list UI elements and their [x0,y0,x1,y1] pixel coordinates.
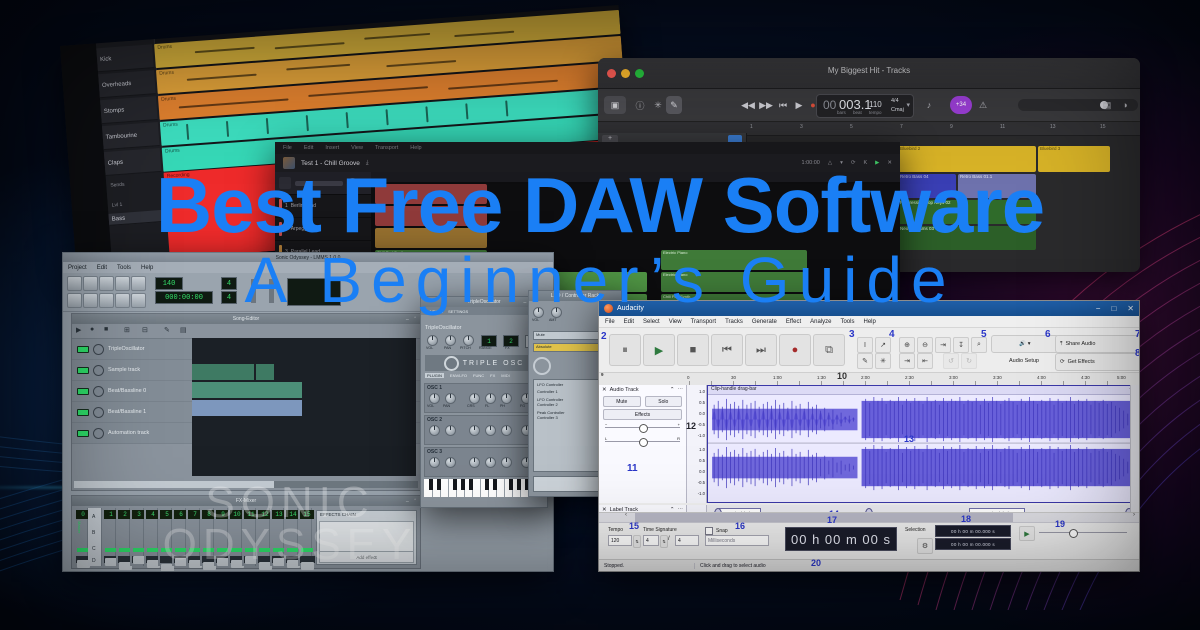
tilted-clip-label: Drums [157,44,172,51]
plugin-nav[interactable]: PLUGIN ENV/LFO FUNC FX MIDI [425,373,510,378]
annotation: 8 [1135,348,1140,359]
skip-to-end-button[interactable]: ⏭ [745,334,777,366]
song-editor-icon[interactable] [67,293,82,308]
vruler-tick: 1.0 [699,447,705,452]
tempo-lcd[interactable]: 140 [155,277,183,290]
fx-channel-number: 15 [300,510,314,519]
region[interactable]: Bluebird 3 [1038,146,1110,172]
menu-transport[interactable]: Transport [691,319,716,325]
track-name: Automation track [108,430,149,436]
meter-label-5: Sends [110,182,125,189]
lcd-tempo-label: tempo [869,110,882,115]
field-label-fx: FX [505,346,510,350]
numerator-lcd[interactable]: 4 [221,277,237,290]
menu-help[interactable]: Help [141,265,153,271]
scroll-right-icon[interactable]: › [1133,512,1135,518]
smart-controls-icon[interactable]: ✳ [650,96,666,114]
clip[interactable]: Electric Piano [661,272,807,292]
add-sample-track-icon[interactable]: ⊟ [142,326,148,334]
fx-channel[interactable]: 5 [158,508,172,566]
fx-channel[interactable]: 13 [270,508,284,566]
stop-button[interactable]: ■ [677,334,709,366]
tilted-clip-label: Drums [163,122,178,129]
beat-editor-icon[interactable] [83,293,98,308]
fx-channel[interactable]: A B C D [88,508,102,566]
knob-label: PH [500,404,505,408]
fx-send-c[interactable]: C [92,546,96,552]
draw-tool-icon[interactable]: ✎ [857,353,873,369]
web-track-row[interactable]: 2 Arpeggio [275,218,371,241]
library-button[interactable]: ▣ [604,96,626,114]
song-editor-scrollbar[interactable] [74,481,418,488]
multi-tool-icon[interactable]: ✳ [875,353,891,369]
editor-icon[interactable]: ✎ [666,96,682,114]
lcd-beat-label: beat [853,110,862,115]
annotation: 7 [1135,329,1140,340]
metronome-icon[interactable] [131,276,146,291]
menu-help[interactable]: Help [410,145,421,151]
numerator-stepper[interactable]: ⇅ [660,535,668,548]
fx-channel[interactable]: 12 [256,508,270,566]
audacity-window[interactable]: Audacity − □ ✕ File Edit Select View Tra… [598,300,1140,572]
tempo-input[interactable]: 120 [608,535,632,546]
window-buttons[interactable]: _ ▫ [406,497,418,503]
master-volume-fader[interactable] [251,279,256,303]
menu-edit[interactable]: Edit [624,319,634,325]
menu-tracks[interactable]: Tracks [725,319,743,325]
lcd-bars-label: bars [837,110,846,115]
pan-slider[interactable]: L R [605,437,680,447]
annotation: 10 [837,371,847,381]
selection-label: Selection [905,527,926,533]
clip[interactable] [375,228,487,248]
audio-clip[interactable]: Clip-handle drag-bar ⋯ [707,385,1139,503]
menu-insert[interactable]: Insert [325,145,339,151]
annotation: 4 [889,329,895,340]
lfo-wave-icon [533,357,551,375]
mute-button[interactable]: Mute [603,396,641,407]
lmms-title: Sonic Odyssey - LMMS 1.0.0 [63,253,553,262]
track-index: 1 [285,203,288,209]
forward-icon[interactable]: ▶▶ [758,96,774,114]
menu-edit[interactable]: Edit [97,265,107,271]
menu-file[interactable]: File [283,145,292,151]
tilted-clip-label: Recording [167,172,190,180]
tilted-track-name: Stomps [100,96,158,124]
get-effects-label: Get Effects [1068,359,1095,365]
collapse-icon[interactable]: ⌃ [670,387,675,393]
file-browser-icon[interactable] [115,293,130,308]
selection-start-field[interactable]: 00 h 00 m 00.000 s [935,525,1011,537]
annotation: 11 [627,463,638,474]
playback-speed-slider[interactable] [1039,532,1127,533]
project-title: Test 1 - Chill Groove [301,160,360,167]
selection-end-field[interactable]: 00 h 00 m 00.000 s [935,538,1011,550]
close-icon[interactable]: ✕ [887,160,892,166]
knob-label: CRS [467,404,475,408]
menu-help[interactable]: Help [863,319,875,325]
menu-tools[interactable]: Tools [117,265,131,271]
lmms-menubar[interactable]: Project Edit Tools Help [63,262,553,273]
play-icon[interactable]: ▶ [76,326,81,334]
nav-midi[interactable]: MIDI [501,373,509,378]
nav-func[interactable]: FUNC [473,373,484,378]
region[interactable]: Progressive Pop Keys 02 [898,200,1036,224]
vruler-tick: 0.5 [699,400,705,405]
region-label: Neon Dreams 03 [900,226,934,231]
vruler-tick: 0.5 [699,458,705,463]
loop-button[interactable]: ⧉ [813,334,845,366]
ruler-mark: 15 [1100,124,1106,130]
clip[interactable]: Electric Piano [661,250,807,270]
go-to-start-icon[interactable]: K [863,160,867,166]
clip-label: Chill Pad Synth [663,294,690,299]
time-signature-denominator[interactable]: 4 [675,535,699,546]
fx-send-d[interactable]: D [92,558,96,564]
record-button[interactable]: ● [779,334,811,366]
fx-mixer-icon[interactable] [131,293,146,308]
menu-effect[interactable]: Effect [786,319,801,325]
knob-label: FG [520,404,525,408]
fx-channel[interactable]: 3 [130,508,144,566]
nav-envlfo[interactable]: ENV/LFO [450,373,467,378]
denominator-lcd[interactable]: 4 [221,291,237,304]
region[interactable]: Retro Bass 01.1 [958,174,1036,198]
menu-project[interactable]: Project [68,265,87,271]
undo-icon[interactable]: ↺ [943,353,959,369]
lcd-time-signature: 4/4 [891,98,899,104]
knob-label: PAN [443,404,450,408]
ruler-mark: 4:30 [1081,375,1090,380]
ruler-mark: 3 [800,124,803,130]
tilted-track-name: Overheads [98,70,156,98]
export-icon[interactable] [115,276,130,291]
audacity-title: Audacity [617,305,644,312]
loop-count-badge[interactable]: +34 [950,96,972,114]
master-pitch-fader[interactable] [269,279,274,303]
play-icon[interactable]: ▶ [792,96,806,114]
menu-file[interactable]: File [605,319,615,325]
master-icon [279,177,291,189]
fx-channel[interactable]: 8 [200,508,214,566]
ruler-mark: 5 [850,124,853,130]
menu-generate[interactable]: Generate [752,319,777,325]
audacity-logo-icon [604,304,613,313]
region-label: Retro Bass 01.1 [960,174,992,179]
time-lcd[interactable]: 000:00:00 [155,291,213,304]
ruler-mark: 2:30 [905,375,914,380]
track-name: TripleOscillator [108,346,144,352]
vruler-tick: 0.0 [699,411,705,416]
vertical-scrollbar[interactable] [1130,385,1139,527]
master-volume-slider[interactable] [295,181,343,186]
osc-section-label: OSC 2 [427,417,442,423]
checkbox-icon[interactable] [705,527,713,535]
pause-button[interactable]: ⏸ [609,334,641,366]
menu-select[interactable]: Select [643,319,660,325]
cpu-graph [287,278,341,306]
track-menu-icon[interactable]: ⋯ [678,387,684,393]
fx-mixer-window[interactable]: FX-Mixer _ ▫ 0 Master A B C D 1 2 3 4 5 … [71,495,421,569]
open-project-icon[interactable] [83,276,98,291]
knob-label-vol: VOL [426,346,433,350]
share-audio-button[interactable]: ⤒ Share Audio [1055,335,1140,353]
region-label: Retro Bass 04 [900,174,929,179]
menu-analyze[interactable]: Analyze [810,319,831,325]
vruler-tick: -1.0 [698,433,705,438]
chevron-down-icon[interactable]: ▾ [906,101,910,109]
status-left: Stopped. [599,563,694,569]
region-label: Bluebird 2 [900,146,920,151]
effects-chain-title: EFFECTS CHAIN [317,511,416,518]
selection-settings-icon[interactable]: ⚙ [917,538,933,554]
fx-channel[interactable]: 0 Master [74,508,88,566]
knob-label-pan: PAN [444,346,451,350]
master-pan-knob[interactable] [347,178,358,189]
vruler-tick: -1.0 [698,491,705,496]
solo-button[interactable]: Solo [645,396,683,407]
zoom-in-icon[interactable]: ⊕ [899,337,915,353]
annotation: 15 [629,521,639,531]
fx-channel-strip-list[interactable]: 0 Master A B C D 1 2 3 4 5 6 7 8 9 10 11 [74,508,312,566]
region[interactable]: Bluebird 2 [898,146,1036,172]
scroll-left-icon[interactable]: ‹ [625,512,627,518]
chevron-down-icon[interactable]: ▾ [840,160,843,166]
metronome-icon[interactable]: △ [828,160,832,166]
tempo-stepper[interactable]: ⇅ [633,535,641,548]
song-editor-title-text: Song-Editor [233,316,259,322]
get-effects-button[interactable]: ⟳ Get Effects [1055,353,1140,371]
share-icon[interactable]: ⤓ [366,160,369,167]
audio-track-vertical-ruler[interactable]: 1.0 0.5 0.0 -0.5 -1.0 1.0 0.5 0.0 -0.5 -… [687,385,707,503]
time-signature-numerator[interactable]: 4 [643,535,659,546]
audio-setup-button[interactable]: Audio Setup [991,353,1057,369]
fit-project-icon[interactable]: ↧ [953,337,969,353]
audio-track-header[interactable]: ✕ Audio Track ⌃ ⋯ [599,385,686,395]
window-buttons[interactable]: _ ▫ [406,315,418,321]
redo-icon[interactable]: ↻ [961,353,977,369]
ruler-mark: 1:00 [773,375,782,380]
annotation: 3 [849,329,855,340]
play-at-speed-icon[interactable]: ▶ [1019,526,1035,541]
vruler-tick: -0.5 [698,480,705,485]
warning-icon[interactable]: ⚠ [976,96,990,114]
oscillator-section[interactable]: OSC 1 VOL PAN CRS FL PH FG SPD [424,383,544,413]
list-view-icon[interactable]: ▤ [1100,96,1114,114]
fx-mixer-title-text: FX-Mixer [236,498,256,504]
fx-send-a[interactable]: A [92,514,95,520]
stop-icon[interactable]: ■ [104,326,108,333]
fx-channel[interactable]: 7 [186,508,200,566]
save-project-icon[interactable] [99,276,114,291]
menu-view[interactable]: View [669,319,682,325]
oscillator-section[interactable]: OSC 3 [424,447,544,477]
snap-checkbox[interactable]: Snap [705,527,728,535]
draw-mode-icon[interactable]: ✎ [164,326,170,334]
ruler-mark: 7 [900,124,903,130]
track-name: Beat/Bassline 1 [108,409,146,415]
web-track-row[interactable]: 1 Berlin Lead [275,195,371,218]
ruler-mark: 30 [731,375,736,380]
region[interactable]: Neon Dreams 03 [898,226,1036,250]
fx-channel[interactable]: 4 [144,508,158,566]
ruler-mark: 1:30 [817,375,826,380]
silence-audio-icon[interactable]: ⇤ [917,353,933,369]
play-icon[interactable]: ▶ [875,160,879,166]
lcd-key: Cmaj [891,107,904,113]
tilted-track-name: Kick [96,44,154,72]
waveform [708,395,1138,495]
snap-select[interactable]: Milliseconds [705,535,769,546]
loop-icon[interactable]: ⟳ [851,160,856,166]
region-label: Progressive Pop Keys 02 [900,200,951,205]
tempo-label: Tempo [608,527,623,533]
garageband-titlebar: My Biggest Hit - Tracks [598,58,1140,89]
track-name: Beat/Bassline 0 [108,388,146,394]
garageband-toolbar[interactable]: ▣ ⓘ ✳ ✎ ◀◀ ▶▶ ⏮ ▶ ● 00 003.1 bars beat 1… [598,89,1140,122]
add-effect-button[interactable]: Add effect [319,551,414,563]
selection-tool-icon[interactable]: I [857,337,873,353]
fx-channel[interactable]: 9 [214,508,228,566]
clip-label: Electric Piano [663,272,687,277]
close-track-icon[interactable]: ✕ [602,387,607,393]
zoom-out-icon[interactable]: ⊖ [917,337,933,353]
tilted-track-name: Tambourine [102,122,160,150]
annotation: 5 [981,329,987,340]
go-to-start-icon[interactable]: ⏮ [776,96,790,114]
plugin-logo-icon [444,356,459,371]
piano-roll-icon[interactable] [99,293,114,308]
nav-plugin[interactable]: PLUGIN [425,373,444,378]
effects-chain-panel[interactable]: EFFECTS CHAIN Add effect [316,510,417,565]
fx-channel[interactable]: 1 [102,508,116,566]
edit-mode-icon[interactable]: ▤ [180,326,187,334]
add-bb-track-icon[interactable]: ⊞ [124,326,130,334]
menu-view[interactable]: View [351,145,363,151]
close-icon[interactable]: ✕ [1127,304,1134,313]
song-editor-window[interactable]: Song-Editor _ ▫ ▶ ● ■ ⊞ ⊟ ✎ ▤ TripleOsci… [71,313,421,491]
gain-slider[interactable]: − + [605,423,680,433]
play-button[interactable]: ▶ [643,334,675,366]
song-editor-title: Song-Editor _ ▫ [72,314,420,324]
audio-track-panel[interactable]: ✕ Audio Track ⌃ ⋯ Mute Solo Effects − + … [599,385,687,503]
knob-label: VOL [427,404,434,408]
annotation: 16 [735,521,745,531]
annotation: 18 [961,514,971,524]
track-name: Berlin Lead [291,203,316,209]
maximize-icon[interactable]: □ [1111,304,1116,313]
audacity-titlebar: Audacity − □ ✕ [599,301,1139,316]
minimize-icon[interactable]: − [1096,304,1101,313]
info-icon[interactable]: ⓘ [632,96,648,114]
web-daw-header: Test 1 - Chill Groove ⤓ 1:00:00 △ ▾ ⟳ K … [275,154,900,173]
song-editor-canvas[interactable] [192,338,416,476]
tilted-track-name: Claps [104,148,162,176]
clip-handle-drag-bar[interactable]: Clip-handle drag-bar ⋯ [708,386,1138,395]
trim-audio-icon[interactable]: ⇥ [899,353,915,369]
clip[interactable] [375,206,487,226]
new-project-icon[interactable] [67,276,82,291]
vruler-tick: 0.0 [699,469,705,474]
fit-selection-icon[interactable]: ⇥ [935,337,951,353]
ruler-mark: 1 [750,124,753,130]
fx-channel[interactable]: 11 [242,508,256,566]
region[interactable]: Retro Bass 04 [898,174,956,198]
garageband-title: My Biggest Hit - Tracks [598,66,1140,75]
fx-mixer-title: FX-Mixer _ ▫ [72,496,420,506]
effects-list[interactable] [319,521,414,552]
plugins-icon: ⟳ [1060,359,1065,365]
annotation: 20 [811,558,821,568]
tab-settings[interactable]: SETTINGS [448,309,468,314]
annotation: 13 [904,434,914,444]
annotation: 17 [827,515,837,525]
annotation: 2 [601,331,607,342]
share-audio-label: Share Audio [1065,341,1095,347]
tab-general[interactable]: GENERAL [424,309,443,314]
knob-label-pitch: PITCH [460,346,471,350]
ruler-mark: 5:00 [1117,375,1126,380]
ruler-mark: 4:00 [1037,375,1046,380]
rewind-icon[interactable]: ◀◀ [740,96,756,114]
plugin-keyboard[interactable] [424,479,544,497]
audacity-toolbar[interactable]: ⏸ ▶ ■ ⏮ ⏭ ● ⧉ I ↗ ✎ ✳ ⊕ ⊖ ⇥ ↧ ⌕ ⇥ ⇤ ↺ ↻ … [599,328,1139,373]
fx-channel[interactable]: 10 [228,508,242,566]
tuner-icon[interactable]: ♪ [922,96,936,114]
fx-channel[interactable]: 2 [116,508,130,566]
plugin-brand-text: TRIPLE OSC [463,360,525,367]
fx-channel[interactable]: 15 [298,508,312,566]
plugin-name: TripleOscillator [425,325,461,331]
garageband-lcd[interactable]: 00 003.1 bars beat 110 tempo 4/4 Cmaj ▾ [816,94,914,118]
effects-button[interactable]: Effects [603,409,682,420]
tilted-clip-label: Drums [159,70,174,77]
menu-edit[interactable]: Edit [304,145,313,151]
plugin-brand: TRIPLE OSC [425,355,543,371]
menu-transport[interactable]: Transport [375,145,398,151]
fx-channel[interactable]: 14 [284,508,298,566]
fx-send-b[interactable]: B [92,530,95,536]
audacity-menubar[interactable]: File Edit Select View Transport Tracks G… [599,316,1139,328]
region-label: Bluebird 3 [1040,146,1060,151]
tilted-clip-label: Drums [161,96,176,103]
fx-channel[interactable]: 6 [172,508,186,566]
annotation: 19 [1055,519,1065,529]
thumbnail-canvas: -12 dB -24 dB -36 dB -48 dB -60 dB Sends… [0,0,1200,630]
record-icon[interactable]: ● [90,326,94,333]
audio-track-name: Audio Track [610,387,639,393]
web-daw-menubar[interactable]: File Edit Insert View Transport Help [275,142,900,154]
menu-tools[interactable]: Tools [840,319,854,325]
track-index: 2 [285,226,288,232]
nav-fx[interactable]: FX [490,373,495,378]
audacity-status-bar: Stopped. Click and drag to select audio … [599,559,1139,571]
loop-browser-icon[interactable]: ◑ [1118,96,1132,114]
track-name: Sample track [108,367,140,373]
audacity-bottom-toolbars[interactable]: ‹ › Tempo 120 ⇅ Time Signature 4 ⇅ / 4 S… [599,512,1139,571]
mute-solo-row[interactable]: Mute Solo [599,395,686,408]
clip[interactable] [375,184,487,204]
clip-handle-label: Clip-handle drag-bar [711,386,757,392]
lcd-tempo: 110 [869,100,882,109]
time-display[interactable]: 00 h 00 m 00 s [785,527,897,551]
meter-label-6: Lvl 1 [112,202,123,209]
oscillator-section[interactable]: OSC 2 [424,415,544,445]
ruler-mark: 3:30 [993,375,1002,380]
song-editor-toolbar[interactable]: ▶ ● ■ ⊞ ⊟ ✎ ▤ [72,324,420,339]
ruler-mark: 13 [1050,124,1056,130]
skip-to-start-button[interactable]: ⏮ [711,334,743,366]
